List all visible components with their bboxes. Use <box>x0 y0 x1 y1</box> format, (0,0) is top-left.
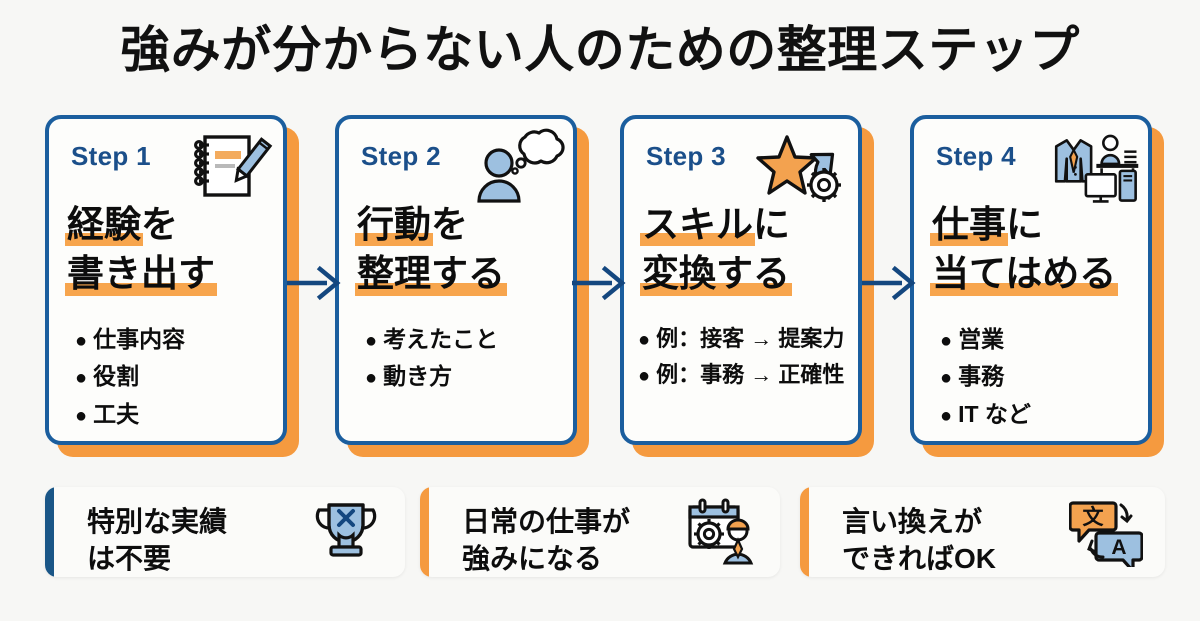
bullet-dot-icon: ● <box>365 367 377 389</box>
step-card-1[interactable]: Step 1 経験を 書き出す ●仕事内容 ●役割 ●工夫 <box>45 115 287 445</box>
list-item: ●営業 <box>940 321 1138 358</box>
list-item-label: 例：事務 → 正確性 <box>656 362 844 387</box>
footer-line-2: 強みになる <box>462 540 630 577</box>
step-label-1: Step 1 <box>71 141 151 172</box>
accent-bar <box>45 487 54 577</box>
svg-text:A: A <box>1111 536 1126 559</box>
list-item: ●例：事務 → 正確性 <box>638 357 848 393</box>
footer-line-1: 日常の仕事が <box>462 503 630 540</box>
headline-mark: 経験 <box>67 201 141 248</box>
bullet-dot-icon: ● <box>940 405 952 427</box>
accent-bar <box>420 487 429 577</box>
headline-mark: 書き出す <box>67 250 215 297</box>
footer-note-text-3: 言い換えが できればOK <box>842 503 996 577</box>
footer-note-2[interactable]: 日常の仕事が 強みになる <box>420 487 780 577</box>
trophy-x-icon <box>309 497 383 567</box>
list-item-label: IT など <box>958 401 1031 427</box>
step-label-4: Step 4 <box>936 141 1016 172</box>
step-card-3[interactable]: Step 3 スキルに 変換する ●例：接客 → 提案力 ●例：事務 → 正確性 <box>620 115 862 445</box>
footer-line-2: できればOK <box>842 540 996 577</box>
arrow-step3-to-step4 <box>862 262 920 304</box>
infographic-root: 強みが分からない人のための整理ステップ Step 1 経験を 書き出す <box>0 0 1200 621</box>
step-card-4[interactable]: Step 4 仕事に 当てはめる <box>910 115 1152 445</box>
bullet-dot-icon: ● <box>365 330 377 352</box>
list-item-label: 例：接客 → 提案力 <box>656 326 844 351</box>
step-bullets-4: ●営業 ●事務 ●IT など <box>940 321 1138 433</box>
list-item: ●考えたこと <box>365 321 563 358</box>
step-headline-2: 行動を 整理する <box>357 201 563 300</box>
step-label-3: Step 3 <box>646 141 726 172</box>
accent-bar <box>800 487 809 577</box>
step-headline-3: スキルに 変換する <box>642 201 848 300</box>
list-item-label: 営業 <box>958 326 1004 352</box>
step-headline-1: 経験を 書き出す <box>67 201 273 300</box>
headline-mark: 当てはめる <box>932 250 1116 297</box>
arrow-step2-to-step3 <box>572 262 630 304</box>
step-bullets-3: ●例：接客 → 提案力 ●例：事務 → 正確性 <box>638 321 848 392</box>
list-item: ●例：接客 → 提案力 <box>638 321 848 357</box>
headline-rest: を <box>431 204 468 245</box>
bullet-dot-icon: ● <box>75 367 87 389</box>
bullet-dot-icon: ● <box>638 329 650 351</box>
footer-note-text-2: 日常の仕事が 強みになる <box>462 503 630 577</box>
list-item-label: 役割 <box>93 363 139 389</box>
svg-text:文: 文 <box>1083 505 1105 529</box>
headline-mark: 変換する <box>642 250 790 297</box>
footer-note-text-1: 特別な実績 は不要 <box>87 503 227 577</box>
step-card-2[interactable]: Step 2 行動を 整理する ●考えたこと ●動き方 <box>335 115 577 445</box>
headline-mark: 行動 <box>357 201 431 248</box>
list-item: ●事務 <box>940 358 1138 395</box>
bullet-dot-icon: ● <box>940 330 952 352</box>
bullet-dot-icon: ● <box>638 365 650 387</box>
page-title: 強みが分からない人のための整理ステップ <box>0 24 1200 77</box>
headline-mark: 仕事 <box>932 201 1006 248</box>
list-item: ●仕事内容 <box>75 321 273 358</box>
footer-line-2: は不要 <box>87 540 227 577</box>
step-bullets-1: ●仕事内容 ●役割 ●工夫 <box>75 321 273 433</box>
headline-mark: スキル <box>642 201 753 248</box>
list-item-label: 考えたこと <box>383 326 498 352</box>
headline-rest: に <box>753 204 790 245</box>
headline-rest: を <box>141 204 178 245</box>
bullet-dot-icon: ● <box>75 330 87 352</box>
list-item-label: 仕事内容 <box>93 326 185 352</box>
list-item-label: 動き方 <box>383 363 452 389</box>
bullet-dot-icon: ● <box>75 405 87 427</box>
list-item: ●役割 <box>75 358 273 395</box>
footer-note-3[interactable]: 言い換えが できればOK 文 A <box>800 487 1165 577</box>
list-item-label: 工夫 <box>93 401 139 427</box>
headline-mark: 整理する <box>357 250 505 297</box>
translate-bubbles-icon: 文 A <box>1069 497 1143 567</box>
arrow-step1-to-step2 <box>287 262 345 304</box>
list-item: ●工夫 <box>75 396 273 433</box>
footer-note-1[interactable]: 特別な実績 は不要 <box>45 487 405 577</box>
footer-line-1: 特別な実績 <box>87 503 227 540</box>
step-bullets-2: ●考えたこと ●動き方 <box>365 321 563 396</box>
calendar-gear-worker-icon <box>684 497 758 567</box>
list-item: ●動き方 <box>365 358 563 395</box>
list-item-label: 事務 <box>958 363 1004 389</box>
step-label-2: Step 2 <box>361 141 441 172</box>
step-headline-4: 仕事に 当てはめる <box>932 201 1138 300</box>
bullet-dot-icon: ● <box>940 367 952 389</box>
headline-rest: に <box>1006 204 1043 245</box>
list-item: ●IT など <box>940 396 1138 433</box>
footer-line-1: 言い換えが <box>842 503 996 540</box>
